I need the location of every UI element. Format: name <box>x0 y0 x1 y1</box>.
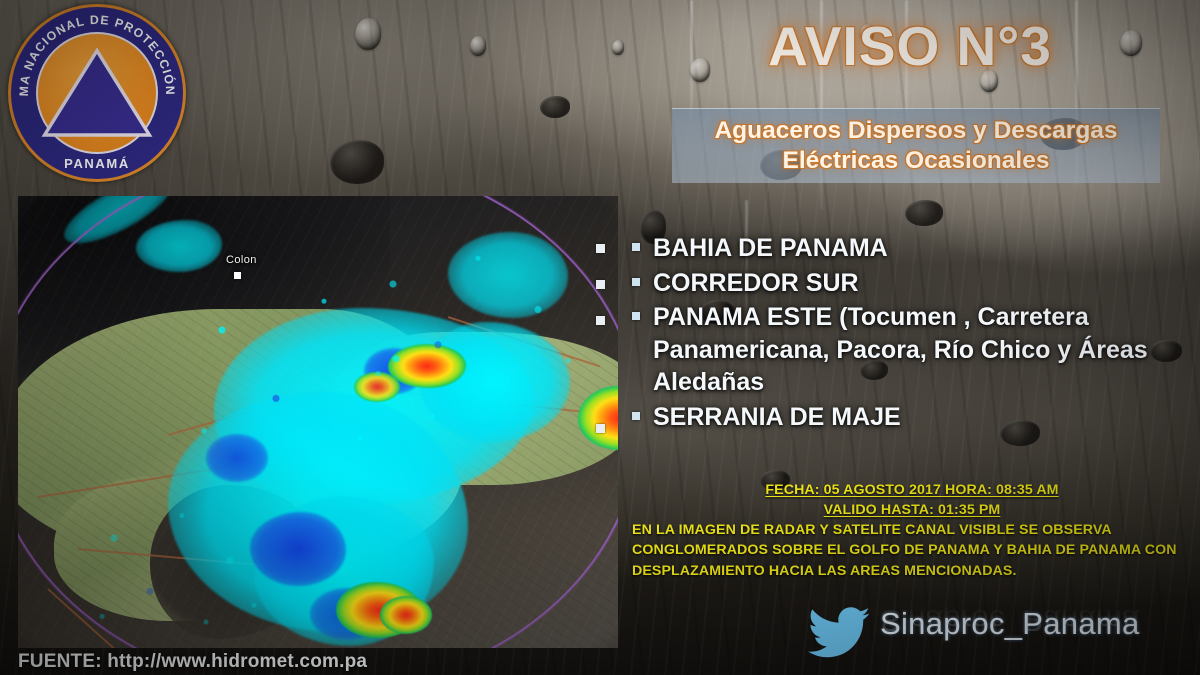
weather-alert-poster: Colon SISTEMA NACIONAL DE PROTECCIÓN CIV… <box>0 0 1200 675</box>
vignette-overlay <box>0 0 1200 675</box>
